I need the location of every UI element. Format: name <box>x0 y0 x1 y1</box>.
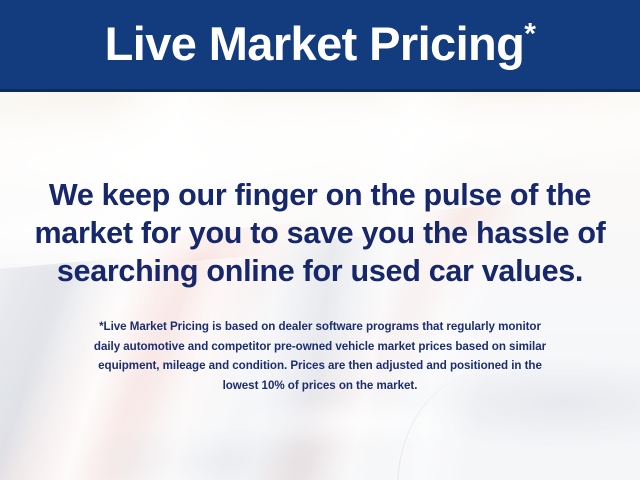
headline: We keep our finger on the pulse of the m… <box>0 176 640 290</box>
page-title: Live Market Pricing* <box>105 20 536 70</box>
headline-line-1: We keep our finger on the pulse of the <box>24 176 616 214</box>
headline-line-3: searching online for used car values. <box>24 252 616 290</box>
content-area: We keep our finger on the pulse of the m… <box>0 92 640 480</box>
disclaimer-line-3: equipment, mileage and condition. Prices… <box>22 356 618 376</box>
disclaimer-line-4: lowest 10% of prices on the market. <box>22 376 618 396</box>
disclaimer-line-2: daily automotive and competitor pre-owne… <box>22 337 618 357</box>
page-title-text: Live Market Pricing <box>105 17 525 70</box>
disclaimer-line-1: *Live Market Pricing is based on dealer … <box>22 317 618 337</box>
page-title-asterisk: * <box>524 17 535 50</box>
headline-line-2: market for you to save you the hassle of <box>24 214 616 252</box>
disclaimer-text: *Live Market Pricing is based on dealer … <box>0 317 640 395</box>
header-band: Live Market Pricing* <box>0 0 640 92</box>
live-market-pricing-banner: Live Market Pricing* We keep our finger … <box>0 0 640 480</box>
